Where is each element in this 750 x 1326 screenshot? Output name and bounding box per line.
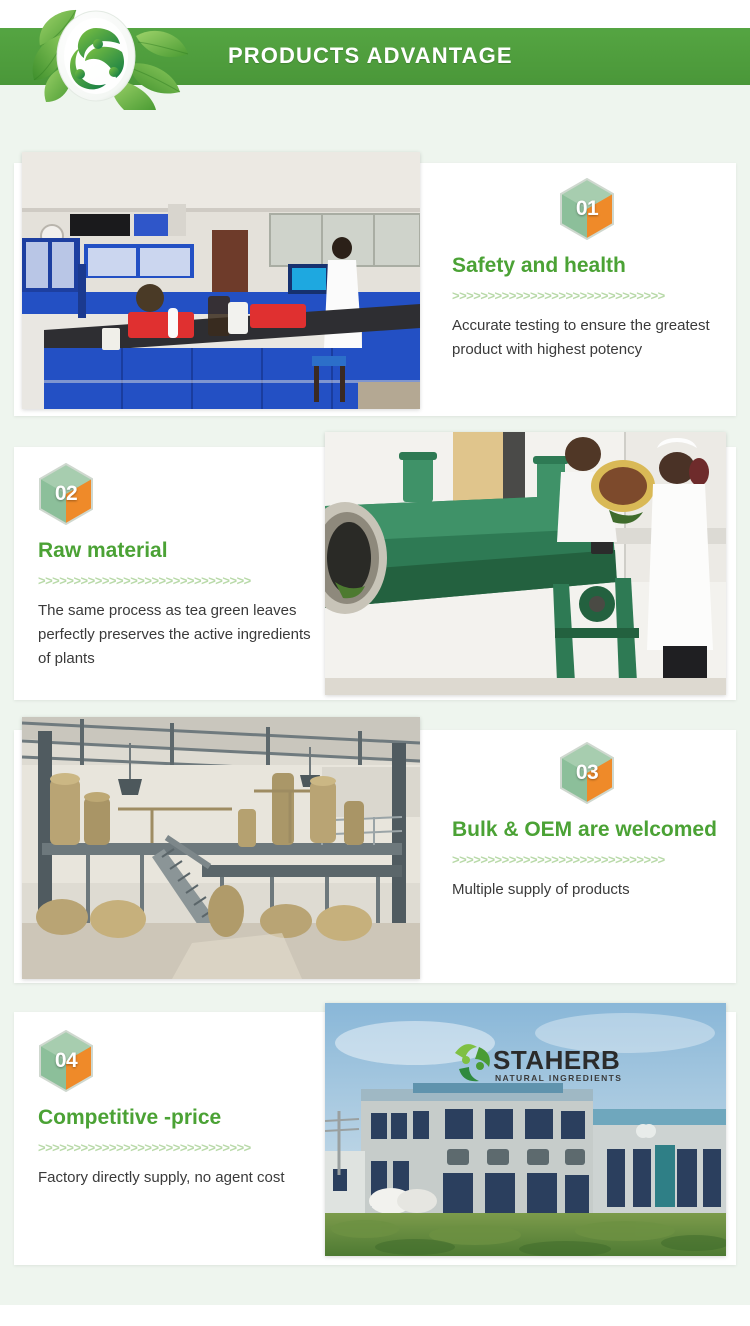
advantage-title: Raw material bbox=[38, 539, 320, 564]
advantage-photo-factory-building: STAHERB NATURAL INGREDIENTS bbox=[325, 1003, 726, 1256]
products-advantage-page: PRODUCTS ADVANTAGE bbox=[0, 0, 750, 1326]
advantage-number-badge: 01 bbox=[559, 178, 615, 240]
chevron-divider: >>>>>>>>>>>>>>>>>>>>>>>>>>>>>> bbox=[452, 853, 722, 866]
advantage-number: 02 bbox=[38, 463, 94, 525]
advantage-photo-roasting-machine bbox=[325, 432, 726, 695]
advantage-title: Bulk & OEM are welcomed bbox=[452, 818, 722, 843]
advantage-photo-laboratory bbox=[22, 152, 420, 409]
advantage-text-block: 01 Safety and health >>>>>>>>>>>>>>>>>>>… bbox=[452, 178, 722, 362]
staherb-leaf-circle-logo-icon bbox=[28, 2, 218, 110]
page-title: PRODUCTS ADVANTAGE bbox=[228, 43, 513, 69]
advantage-title: Safety and health bbox=[452, 254, 722, 279]
advantage-photo-extraction-workshop bbox=[22, 717, 420, 979]
advantage-text-block: 02 Raw material >>>>>>>>>>>>>>>>>>>>>>>>… bbox=[38, 463, 320, 672]
advantage-text-block: 03 Bulk & OEM are welcomed >>>>>>>>>>>>>… bbox=[452, 742, 722, 902]
chevron-divider: >>>>>>>>>>>>>>>>>>>>>>>>>>>>>> bbox=[38, 1141, 320, 1154]
chevron-divider: >>>>>>>>>>>>>>>>>>>>>>>>>>>>>> bbox=[452, 289, 722, 302]
advantage-description: Accurate testing to ensure the greatest … bbox=[452, 314, 722, 363]
advantage-number-badge: 02 bbox=[38, 463, 94, 525]
advantage-number-badge: 03 bbox=[559, 742, 615, 804]
advantage-title: Competitive -price bbox=[38, 1106, 320, 1131]
advantage-description: The same process as tea green leaves per… bbox=[38, 599, 320, 672]
advantage-number: 03 bbox=[559, 742, 615, 804]
building-sign-brand: STAHERB bbox=[493, 1045, 620, 1075]
advantage-description: Multiple supply of products bbox=[452, 878, 722, 902]
building-sign-tagline: NATURAL INGREDIENTS bbox=[495, 1073, 622, 1083]
advantage-text-block: 04 Competitive -price >>>>>>>>>>>>>>>>>>… bbox=[38, 1030, 320, 1190]
advantage-number-badge: 04 bbox=[38, 1030, 94, 1092]
chevron-divider: >>>>>>>>>>>>>>>>>>>>>>>>>>>>>> bbox=[38, 574, 320, 587]
advantage-number: 04 bbox=[38, 1030, 94, 1092]
advantage-number: 01 bbox=[559, 178, 615, 240]
advantage-description: Factory directly supply, no agent cost bbox=[38, 1166, 320, 1190]
